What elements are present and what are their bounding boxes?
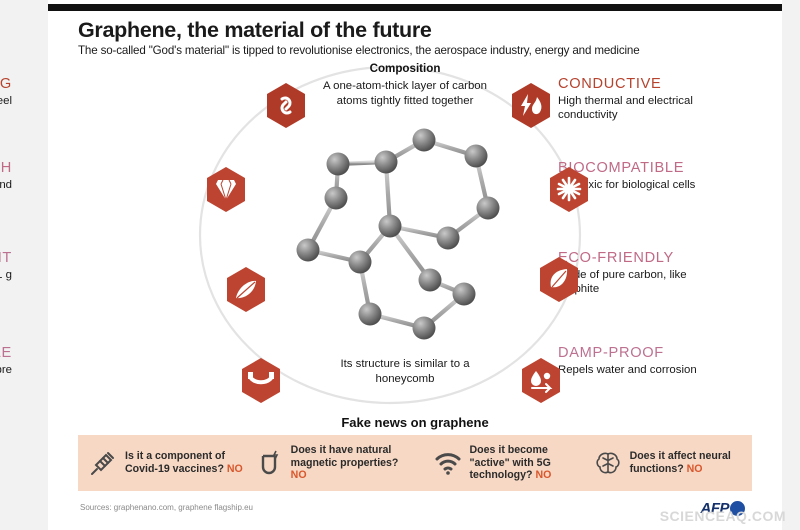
- fake-news-question: Does it become "active" with 5G technolo…: [470, 444, 583, 482]
- sources-note: Sources: graphenano.com, graphene flagsh…: [80, 503, 253, 512]
- feature-description: More flexible than carbon fibre: [0, 363, 12, 377]
- feature-description: Tougher than diamond: [0, 178, 12, 192]
- feature-description: 1 m³ weighs less than 1 g: [0, 268, 12, 282]
- fake-news-answer: NO: [535, 469, 551, 481]
- site-watermark: SCIENCEAQ.COM: [660, 508, 786, 524]
- wifi-icon: [431, 446, 465, 480]
- graphene-molecule-diagram: [278, 122, 518, 359]
- chain-link-icon: [265, 82, 307, 129]
- diamond-icon: [205, 166, 247, 213]
- fake-news-answer: NO: [227, 463, 243, 475]
- fake-news-answer: NO: [687, 463, 703, 475]
- feature-description: 200 times stronger than steel: [0, 94, 12, 108]
- composition-heading: Composition: [320, 62, 490, 75]
- feature-label: LIGHT: [0, 250, 12, 267]
- feature-label: TOUGH: [0, 160, 12, 177]
- fake-news-heading: Fake news on graphene: [48, 415, 782, 430]
- feature-label: STRONG: [0, 76, 12, 93]
- feature-description: Repels water and corrosion: [558, 363, 730, 377]
- composition-description: A one-atom-thick layer of carbon atoms t…: [312, 79, 498, 108]
- cell-burst-icon: [548, 166, 590, 213]
- leaf-icon: [538, 256, 580, 303]
- feather-icon: [225, 266, 267, 313]
- fake-news-item-magnetic: Does it have natural magnetic properties…: [244, 435, 423, 491]
- fake-news-question: Does it have natural magnetic properties…: [291, 444, 415, 482]
- feature-label: ECO-FRIENDLY: [558, 250, 730, 267]
- bolt-flame-icon: [510, 82, 552, 129]
- infographic-page: Graphene, the material of the future The…: [0, 0, 800, 530]
- fake-news-item-5g: Does it become "active" with 5G technolo…: [423, 435, 583, 491]
- magnet-icon: [252, 446, 286, 480]
- fake-news-question: Does it affect neural functions? NO: [630, 450, 752, 475]
- fake-news-question: Is it a component of Covid-19 vaccines? …: [125, 450, 244, 475]
- bending-bar-icon: [240, 357, 282, 404]
- fake-news-answer: NO: [291, 469, 307, 481]
- fake-news-item-vaccines: Is it a component of Covid-19 vaccines? …: [78, 435, 244, 491]
- feature-description: Made of pure carbon, like graphite: [558, 268, 730, 297]
- feature-label: CONDUCTIVE: [558, 76, 730, 93]
- fake-news-item-neural: Does it affect neural functions? NO: [583, 435, 752, 491]
- feature-label: DAMP-PROOF: [558, 345, 730, 362]
- feature-description: High thermal and electrical conductivity: [558, 94, 730, 123]
- honeycomb-caption: Its structure is similar to a honeycomb: [310, 357, 500, 386]
- fake-news-panel: Is it a component of Covid-19 vaccines? …: [78, 435, 752, 491]
- syringe-icon: [86, 446, 120, 480]
- water-drop-repel-icon: [520, 357, 562, 404]
- top-rule: [48, 4, 782, 11]
- feature-label: FLEXIBLE: [0, 345, 12, 362]
- brain-icon: [591, 446, 625, 480]
- page-title: Graphene, the material of the future: [78, 18, 432, 43]
